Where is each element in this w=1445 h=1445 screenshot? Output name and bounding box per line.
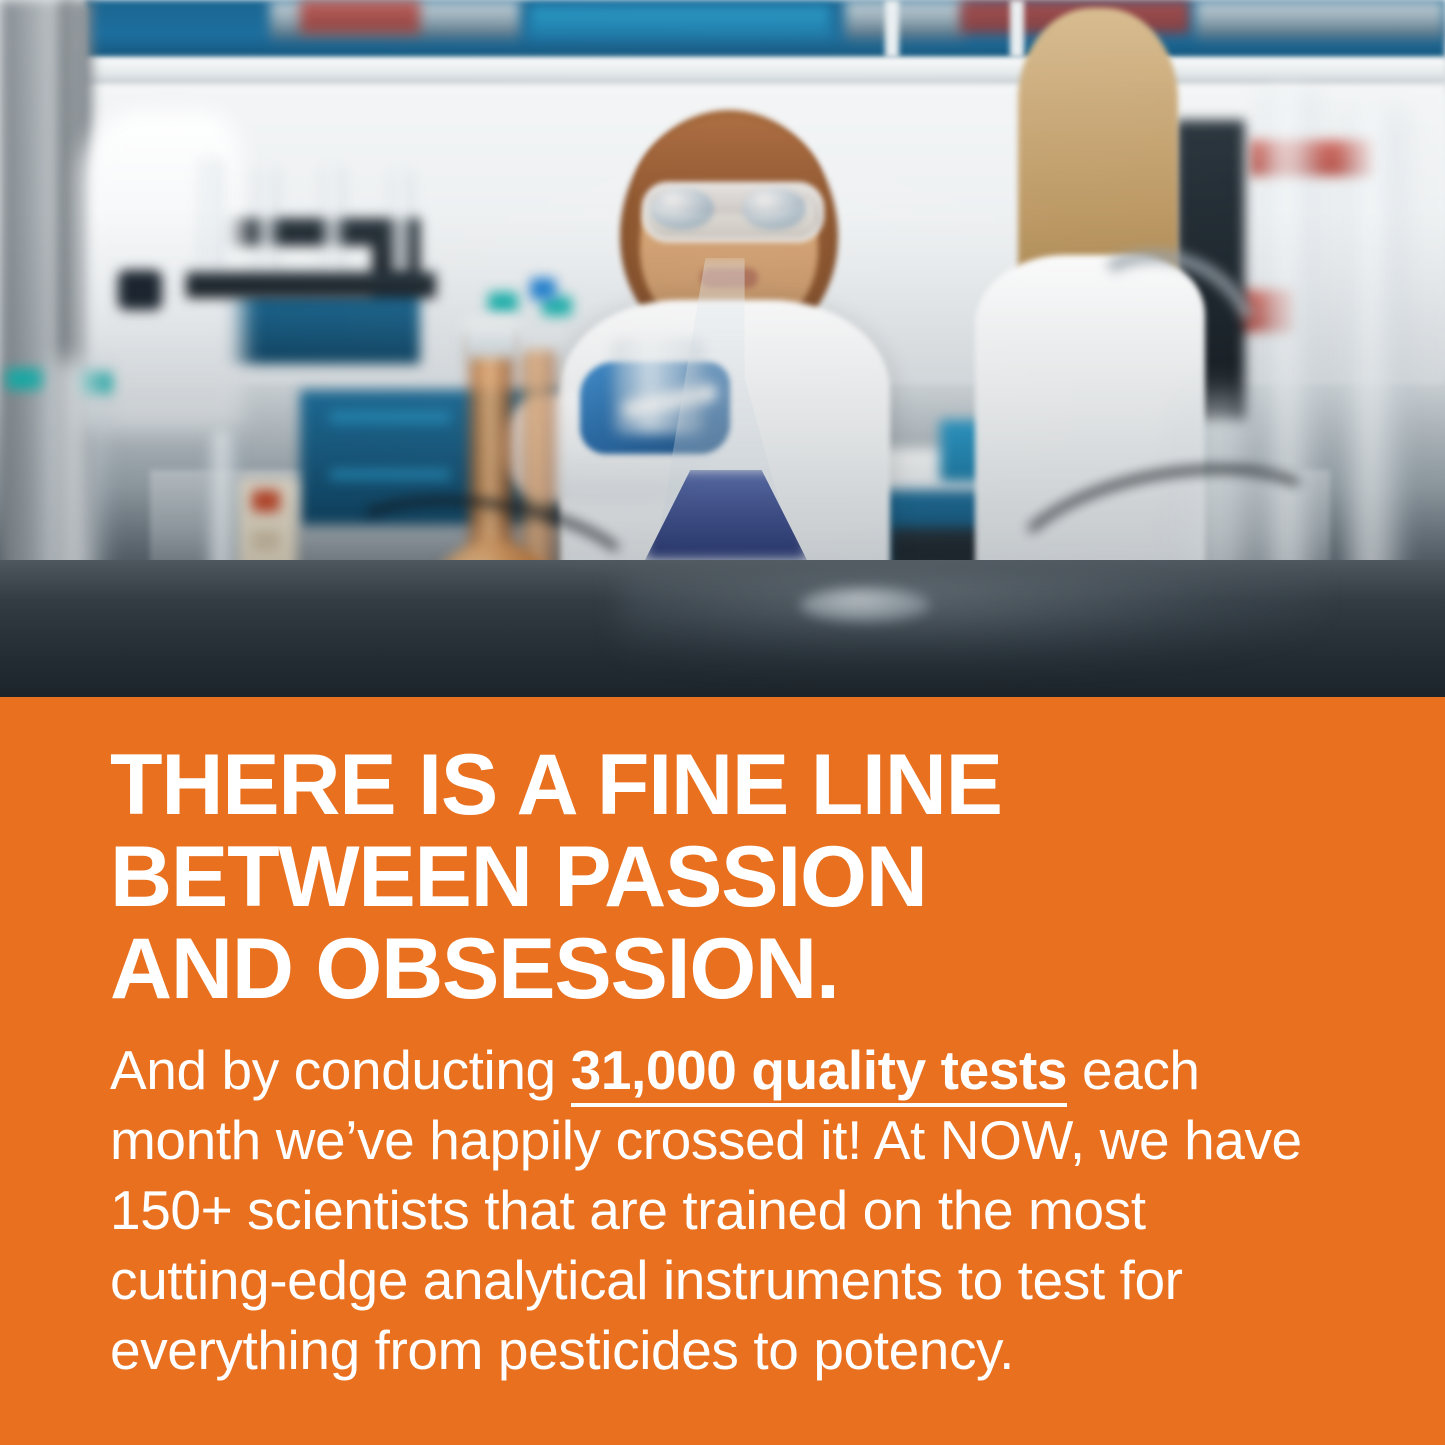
headline-line-1: THERE IS A FINE LINE (110, 739, 1330, 831)
marketing-poster: 500 THERE IS A FINE LINE BETWEEN PASSION… (0, 0, 1445, 1445)
photo-color-grade (0, 0, 1445, 697)
laboratory-photo: 500 (0, 0, 1445, 697)
body-paragraph: And by conducting 31,000 quality tests e… (110, 1035, 1310, 1385)
headline-line-2: BETWEEN PASSION (110, 831, 1330, 923)
page-title: THERE IS A FINE LINE BETWEEN PASSION AND… (110, 739, 1330, 1015)
headline-line-3: AND OBSESSION. (110, 923, 1330, 1015)
body-text-before: And by conducting (110, 1039, 571, 1101)
quality-tests-highlight: 31,000 quality tests (571, 1039, 1067, 1107)
orange-copy-panel: THERE IS A FINE LINE BETWEEN PASSION AND… (0, 697, 1445, 1445)
